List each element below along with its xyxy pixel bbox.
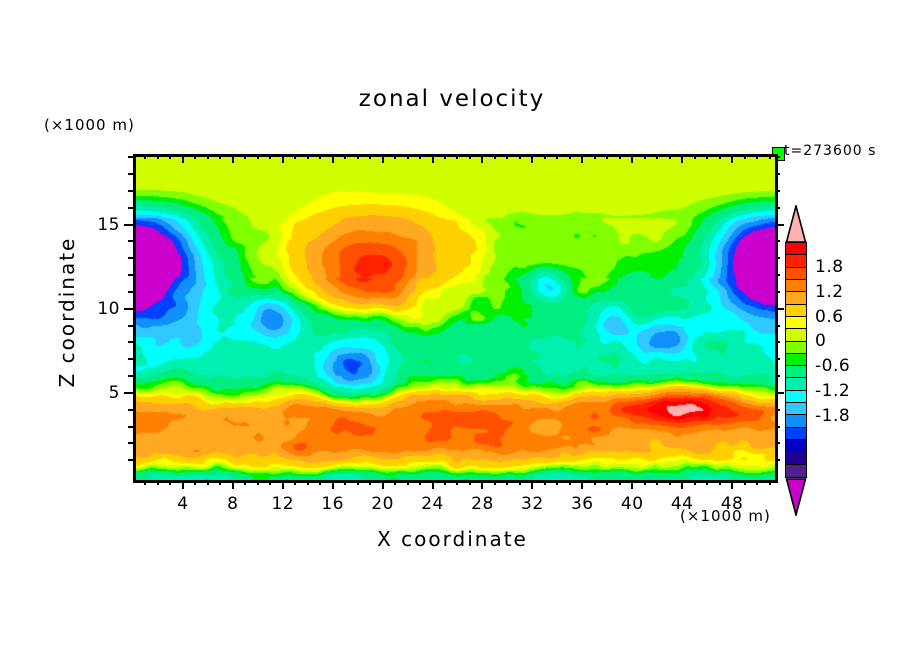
colorbar-tick-label: 0.6 (815, 307, 844, 327)
y-minor-tick-right (775, 341, 780, 343)
x-tick-label: 48 (721, 494, 744, 514)
x-minor-tick-top (506, 154, 508, 159)
x-major-tick (581, 480, 583, 489)
colorbar-band (786, 403, 806, 415)
x-minor-tick-top (669, 154, 671, 159)
x-major-tick-top (481, 154, 483, 163)
x-minor-tick-top (144, 154, 146, 159)
x-minor-tick-top (194, 154, 196, 159)
x-major-tick (481, 480, 483, 489)
x-minor-tick (744, 480, 746, 485)
x-minor-tick-top (719, 154, 721, 159)
x-minor-tick (357, 480, 359, 485)
x-minor-tick (506, 480, 508, 485)
y-minor-tick-right (775, 291, 780, 293)
x-minor-tick (644, 480, 646, 485)
x-major-tick-top (282, 154, 284, 163)
y-minor-tick (128, 459, 133, 461)
x-minor-tick (157, 480, 159, 485)
x-minor-tick (307, 480, 309, 485)
y-minor-tick-right (775, 274, 780, 276)
y-minor-tick-right (775, 156, 780, 158)
x-minor-tick-top (619, 154, 621, 159)
x-minor-tick-top (694, 154, 696, 159)
x-minor-tick-top (307, 154, 309, 159)
x-minor-tick-top (469, 154, 471, 159)
x-minor-tick (669, 480, 671, 485)
x-major-tick (332, 480, 334, 489)
x-major-tick (432, 480, 434, 489)
x-tick-label: 28 (471, 494, 494, 514)
x-minor-tick (407, 480, 409, 485)
colorbar-tick-label: 1.8 (815, 257, 844, 277)
colorbar-tick-label: -1.2 (815, 381, 850, 401)
time-annotation: t=273600 s (784, 143, 876, 159)
x-minor-tick (394, 480, 396, 485)
colorbar (785, 205, 807, 515)
x-minor-tick (319, 480, 321, 485)
x-minor-tick (756, 480, 758, 485)
x-minor-tick-top (357, 154, 359, 159)
x-minor-tick (544, 480, 546, 485)
y-minor-tick-right (775, 426, 780, 428)
x-minor-tick (244, 480, 246, 485)
colorbar-band (786, 378, 806, 390)
y-minor-tick-right (775, 240, 780, 242)
y-minor-tick-right (775, 325, 780, 327)
x-minor-tick (556, 480, 558, 485)
colorbar-band (786, 268, 806, 280)
y-minor-tick (128, 358, 133, 360)
x-major-tick-top (681, 154, 683, 163)
y-minor-tick-right (775, 190, 780, 192)
y-minor-tick-right (775, 409, 780, 411)
y-minor-tick (128, 240, 133, 242)
x-minor-tick-top (494, 154, 496, 159)
x-tick-label: 44 (671, 494, 694, 514)
x-minor-tick (569, 480, 571, 485)
x-major-tick (232, 480, 234, 489)
x-minor-tick-top (244, 154, 246, 159)
x-major-tick-top (581, 154, 583, 163)
y-major-tick-right (775, 392, 784, 394)
x-minor-tick-top (269, 154, 271, 159)
x-minor-tick-top (519, 154, 521, 159)
x-minor-tick (294, 480, 296, 485)
x-tick-label: 20 (371, 494, 394, 514)
x-minor-tick-top (744, 154, 746, 159)
colorbar-under-arrow (785, 478, 807, 516)
x-minor-tick-top (169, 154, 171, 159)
x-major-tick-top (232, 154, 234, 163)
x-minor-tick (169, 480, 171, 485)
x-major-tick-top (332, 154, 334, 163)
colorbar-band (786, 255, 806, 267)
x-minor-tick-top (319, 154, 321, 159)
x-minor-tick-top (706, 154, 708, 159)
colorbar-band (786, 329, 806, 341)
y-major-tick (124, 224, 133, 226)
colorbar-band (786, 366, 806, 378)
x-minor-tick (519, 480, 521, 485)
x-major-tick-top (631, 154, 633, 163)
y-major-tick-right (775, 224, 784, 226)
x-tick-label: 4 (177, 494, 188, 514)
colorbar-band (786, 243, 806, 255)
colorbar-band (786, 440, 806, 452)
x-minor-tick-top (544, 154, 546, 159)
x-major-tick (182, 480, 184, 489)
y-major-tick (124, 308, 133, 310)
x-tick-label: 12 (271, 494, 294, 514)
x-minor-tick (419, 480, 421, 485)
x-minor-tick-top (656, 154, 658, 159)
x-major-tick-top (182, 154, 184, 163)
x-minor-tick-top (257, 154, 259, 159)
x-minor-tick-top (407, 154, 409, 159)
x-minor-tick (594, 480, 596, 485)
x-tick-label: 32 (521, 494, 544, 514)
y-minor-tick-right (775, 442, 780, 444)
x-major-tick (631, 480, 633, 489)
x-minor-tick-top (756, 154, 758, 159)
x-minor-tick-top (369, 154, 371, 159)
y-minor-tick (128, 257, 133, 259)
x-major-tick (382, 480, 384, 489)
colorbar-band (786, 342, 806, 354)
x-minor-tick (656, 480, 658, 485)
colorbar-over-arrow (785, 205, 807, 243)
x-minor-tick (444, 480, 446, 485)
y-minor-tick-right (775, 358, 780, 360)
colorbar-band (786, 280, 806, 292)
x-minor-tick (144, 480, 146, 485)
x-minor-tick-top (344, 154, 346, 159)
x-tick-label: 36 (571, 494, 594, 514)
y-tick-label: 10 (75, 299, 120, 319)
y-minor-tick (128, 341, 133, 343)
x-minor-tick-top (419, 154, 421, 159)
x-major-tick-top (531, 154, 533, 163)
y-minor-tick (128, 207, 133, 209)
x-minor-tick-top (644, 154, 646, 159)
page-title: zonal velocity (0, 86, 904, 112)
x-minor-tick-top (207, 154, 209, 159)
y-tick-label: 15 (75, 215, 120, 235)
colorbar-band (786, 452, 806, 464)
x-minor-tick-top (569, 154, 571, 159)
x-minor-tick-top (394, 154, 396, 159)
y-minor-tick (128, 409, 133, 411)
colorbar-band (786, 428, 806, 440)
y-major-tick-right (775, 308, 784, 310)
y-minor-tick (128, 375, 133, 377)
colorbar-tick-label: -0.6 (815, 356, 850, 376)
x-major-tick-top (382, 154, 384, 163)
x-minor-tick-top (769, 154, 771, 159)
colorbar-band (786, 465, 806, 477)
y-minor-tick (128, 325, 133, 327)
y-minor-tick (128, 156, 133, 158)
x-major-tick-top (731, 154, 733, 163)
x-minor-tick (769, 480, 771, 485)
x-minor-tick-top (556, 154, 558, 159)
y-minor-tick (128, 426, 133, 428)
y-minor-tick-right (775, 257, 780, 259)
y-major-tick (124, 392, 133, 394)
x-minor-tick (494, 480, 496, 485)
x-minor-tick-top (444, 154, 446, 159)
y-minor-tick (128, 291, 133, 293)
x-minor-tick (257, 480, 259, 485)
x-minor-tick (469, 480, 471, 485)
x-major-tick-top (432, 154, 434, 163)
colorbar-band (786, 305, 806, 317)
colorbar-bands (785, 242, 807, 478)
x-minor-tick (706, 480, 708, 485)
colorbar-band (786, 415, 806, 427)
x-minor-tick-top (219, 154, 221, 159)
colorbar-tick-label: -1.8 (815, 406, 850, 426)
x-minor-tick-top (294, 154, 296, 159)
x-minor-tick (269, 480, 271, 485)
x-minor-tick (344, 480, 346, 485)
x-minor-tick (694, 480, 696, 485)
x-major-tick (731, 480, 733, 489)
colorbar-tick-label: 1.2 (815, 282, 844, 302)
x-major-tick (531, 480, 533, 489)
x-axis-title: X coordinate (133, 527, 772, 551)
colorbar-band (786, 292, 806, 304)
x-minor-tick (619, 480, 621, 485)
y-minor-tick (128, 442, 133, 444)
y-minor-tick (128, 190, 133, 192)
x-tick-label: 8 (227, 494, 238, 514)
y-minor-tick-right (775, 375, 780, 377)
y-tick-label: 5 (75, 383, 120, 403)
y-minor-tick-right (775, 173, 780, 175)
x-major-tick (681, 480, 683, 489)
x-tick-label: 24 (421, 494, 444, 514)
colorbar-band (786, 391, 806, 403)
y-minor-tick-right (775, 207, 780, 209)
colorbar-band (786, 354, 806, 366)
x-minor-tick (606, 480, 608, 485)
contour-field-canvas (136, 157, 775, 480)
colorbar-band (786, 317, 806, 329)
x-minor-tick-top (456, 154, 458, 159)
x-major-tick (282, 480, 284, 489)
x-minor-tick (456, 480, 458, 485)
y-axis-unit-label: (×1000 m) (44, 116, 135, 134)
y-minor-tick (128, 274, 133, 276)
x-minor-tick-top (157, 154, 159, 159)
x-minor-tick (719, 480, 721, 485)
x-minor-tick-top (606, 154, 608, 159)
y-minor-tick-right (775, 459, 780, 461)
plot-area (133, 154, 778, 483)
colorbar-tick-label: 0 (815, 331, 826, 351)
figure-root: zonal velocity (×1000 m) (×1000 m) t=273… (0, 0, 904, 654)
x-minor-tick-top (594, 154, 596, 159)
x-minor-tick (219, 480, 221, 485)
x-tick-label: 40 (621, 494, 644, 514)
x-minor-tick (194, 480, 196, 485)
y-minor-tick (128, 173, 133, 175)
x-tick-label: 16 (321, 494, 344, 514)
x-minor-tick (369, 480, 371, 485)
x-minor-tick (207, 480, 209, 485)
